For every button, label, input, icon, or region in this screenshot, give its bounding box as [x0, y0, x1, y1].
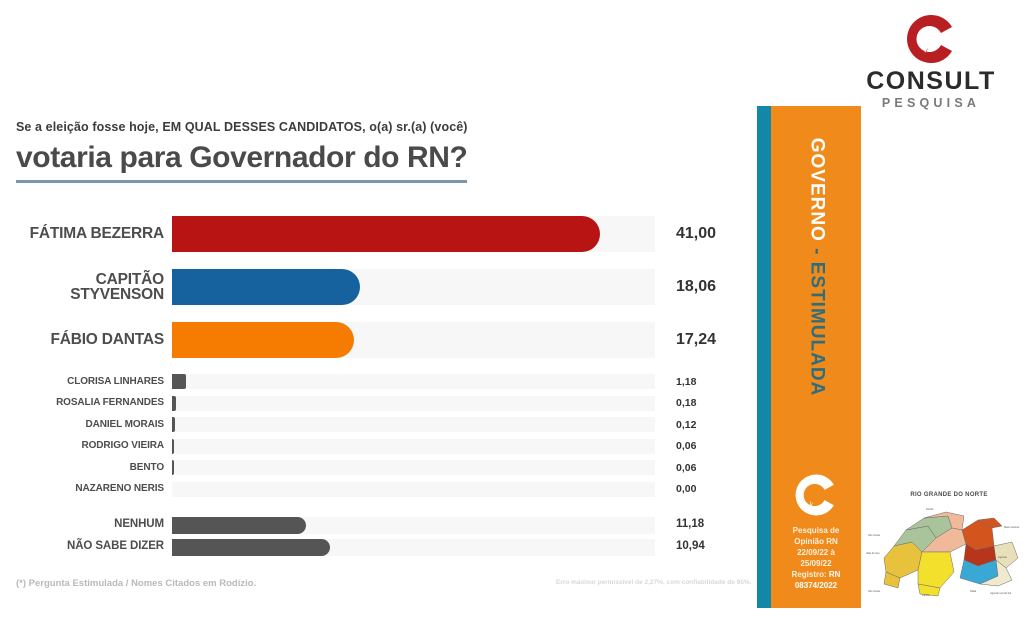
logo-subtitle: PESQUISA	[866, 97, 996, 110]
bar-track	[172, 417, 655, 432]
minor-candidates-group: CLORISA LINHARES 1,18 ROSALIA FERNANDES …	[0, 371, 740, 500]
table-row: FÁTIMA BEZERRA 41,00	[0, 212, 740, 256]
value-label: 0,06	[676, 463, 696, 474]
bar-track	[172, 482, 655, 497]
sidebar-panel: GOVERNO - ESTIMULADA Pesquisa de Opinião…	[757, 106, 861, 608]
value-label: 17,24	[676, 332, 716, 348]
registry-line: Registro: RN 08374/2022	[771, 569, 861, 591]
table-row: CLORISA LINHARES 1,18	[0, 371, 740, 393]
value-label: 11,18	[676, 519, 704, 531]
survey-line-3: 22/09/22 à	[771, 547, 861, 558]
survey-line-2: Opinião RN	[771, 536, 861, 547]
bar-track	[172, 517, 655, 534]
svg-text:Alto Oeste: Alto Oeste	[868, 589, 881, 593]
svg-text:Agreste: Agreste	[998, 555, 1007, 559]
table-row: NAZARENO NERIS 0,00	[0, 479, 740, 501]
value-label: 18,06	[676, 279, 716, 295]
survey-line-1: Pesquisa de	[771, 525, 861, 536]
table-row: BENTO 0,06	[0, 457, 740, 479]
svg-text:Agreste Litoral Sul: Agreste Litoral Sul	[990, 591, 1012, 595]
candidate-label: RODRIGO VIEIRA	[0, 441, 172, 451]
bar-fill	[172, 417, 175, 432]
bar-track	[172, 322, 655, 358]
summary-label: NENHUM	[0, 519, 172, 531]
sidebar-title-governo: GOVERNO	[806, 138, 827, 242]
bar-track	[172, 396, 655, 411]
question-block: Se a eleição fosse hoje, EM QUAL DESSES …	[16, 120, 716, 183]
table-row: FÁBIO DANTAS 17,24	[0, 318, 740, 362]
sidebar-teal-stripe	[757, 106, 771, 608]
footnote-margin-of-error: Erro máximo permissível de 2,27%, com co…	[556, 579, 751, 586]
rn-state-map: RIO GRANDE DO NORTE Alto Oeste Vale do A…	[866, 492, 1032, 600]
page-title: votaria para Governador do RN?	[16, 143, 467, 183]
bar-track	[172, 216, 655, 252]
bar-fill	[172, 439, 174, 454]
sidebar-title-separator: -	[806, 242, 827, 262]
candidate-label: CLORISA LINHARES	[0, 377, 172, 387]
summary-group: NENHUM 11,18 NÃO SABE DIZER 10,94	[0, 514, 740, 558]
bar-fill	[172, 322, 354, 358]
svg-text:Mato Grande: Mato Grande	[1004, 525, 1020, 529]
candidate-label: FÁTIMA BEZERRA	[0, 226, 172, 242]
svg-text:Alto Oeste: Alto Oeste	[868, 533, 881, 537]
consult-logo: CONSULT PESQUISA	[866, 12, 996, 94]
sidebar-vertical-title: GOVERNO - ESTIMULADA	[771, 106, 861, 466]
bar-track	[172, 374, 655, 389]
svg-text:Vale do Açu: Vale do Açu	[866, 551, 880, 555]
bar-fill	[172, 517, 306, 534]
bar-fill	[172, 269, 360, 305]
footnote-methodology: (*) Pergunta Estimulada / Nomes Citados …	[16, 578, 256, 589]
bar-fill	[172, 539, 330, 556]
svg-text:Natal: Natal	[970, 589, 976, 593]
top-candidates-group: FÁTIMA BEZERRA 41,00 CAPITÃO STYVENSON 1…	[0, 212, 740, 362]
map-regions: Alto Oeste Vale do Açu Alto Oeste Seridó…	[866, 502, 1032, 598]
value-label: 10,94	[676, 541, 705, 553]
map-title: RIO GRANDE DO NORTE	[866, 492, 1032, 498]
table-row: ROSALIA FERNANDES 0,18	[0, 393, 740, 415]
table-row: NENHUM 11,18	[0, 514, 740, 536]
bar-track	[172, 439, 655, 454]
value-label: 41,00	[676, 226, 716, 242]
candidate-label: BENTO	[0, 463, 172, 473]
value-label: 0,00	[676, 484, 696, 495]
value-label: 0,18	[676, 398, 696, 409]
bar-fill	[172, 460, 174, 475]
svg-text:Seridó: Seridó	[926, 507, 934, 511]
value-label: 0,12	[676, 420, 696, 431]
table-row: RODRIGO VIEIRA 0,06	[0, 436, 740, 458]
logo-wordmark: CONSULT	[866, 69, 996, 94]
candidate-label: CAPITÃO STYVENSON	[0, 272, 172, 303]
consult-c-mark-icon-small	[793, 472, 839, 518]
candidate-label: FÁBIO DANTAS	[0, 332, 172, 348]
summary-label: NÃO SABE DIZER	[0, 541, 172, 553]
svg-text:Seridó: Seridó	[922, 593, 930, 597]
sidebar-title-estimulada: ESTIMULADA	[806, 262, 827, 397]
bar-fill	[172, 374, 186, 389]
sidebar-footer: Pesquisa de Opinião RN 22/09/22 à 25/09/…	[771, 472, 861, 591]
bar-fill	[172, 396, 176, 411]
results-bar-chart: FÁTIMA BEZERRA 41,00 CAPITÃO STYVENSON 1…	[0, 212, 740, 558]
candidate-label: DANIEL MORAIS	[0, 420, 172, 430]
candidate-label: ROSALIA FERNANDES	[0, 398, 172, 408]
value-label: 0,06	[676, 441, 696, 452]
bar-fill	[172, 216, 600, 252]
table-row: DANIEL MORAIS 0,12	[0, 414, 740, 436]
table-row: CAPITÃO STYVENSON 18,06	[0, 265, 740, 309]
bar-track	[172, 460, 655, 475]
bar-track	[172, 539, 655, 556]
bar-track	[172, 269, 655, 305]
table-row: NÃO SABE DIZER 10,94	[0, 536, 740, 558]
candidate-label: NAZARENO NERIS	[0, 484, 172, 494]
survey-line-4: 25/09/22	[771, 558, 861, 569]
survey-info: Pesquisa de Opinião RN 22/09/22 à 25/09/…	[771, 525, 861, 591]
registry-label: Registro:	[792, 570, 829, 579]
consult-c-mark-icon	[904, 12, 958, 66]
value-label: 1,18	[676, 377, 696, 388]
question-kicker: Se a eleição fosse hoje, EM QUAL DESSES …	[16, 120, 716, 134]
